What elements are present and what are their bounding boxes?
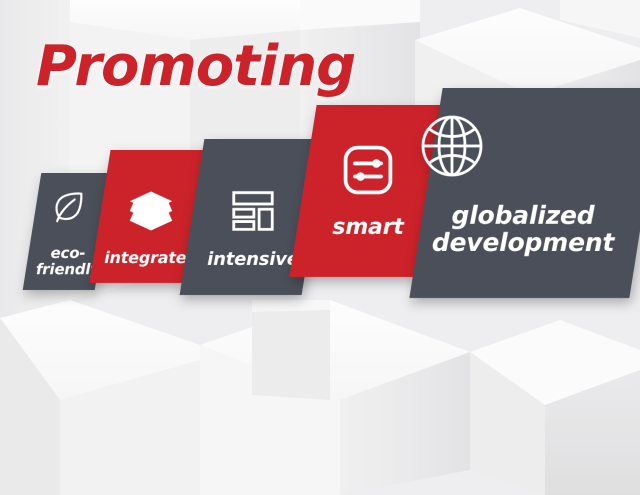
leaf-icon (48, 187, 88, 231)
card-globalized-development[interactable]: globalized development (409, 88, 640, 298)
globe-icon (416, 110, 488, 186)
infographic-canvas: Promoting eco- friendly (0, 0, 640, 495)
layout-grid-icon (231, 190, 275, 236)
layers-icon (128, 189, 174, 237)
card-label-intensive: intensive (207, 250, 299, 269)
card-label-globalized-development: globalized development (432, 202, 614, 256)
card-label-smart: smart (332, 216, 403, 240)
page-title: Promoting (36, 34, 355, 99)
sliders-icon (340, 142, 396, 202)
